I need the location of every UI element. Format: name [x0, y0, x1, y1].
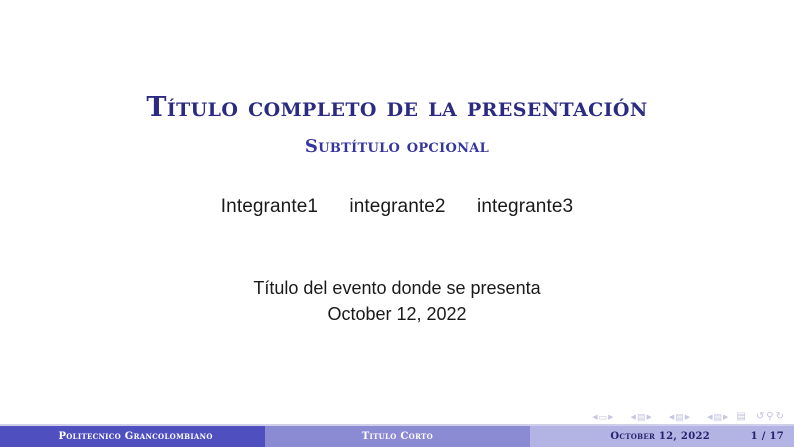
- nav-next-section-arrow-icon[interactable]: ▶: [723, 414, 728, 421]
- title-block: Título completo de la presentación Subtí…: [0, 92, 794, 158]
- author-list: Integrante1 integrante2 integrante3: [0, 196, 794, 218]
- nav-subsection-group[interactable]: ◀ ▤ ▶: [669, 413, 690, 422]
- nav-prev-slide-arrow-icon[interactable]: ◀: [592, 414, 597, 421]
- author-item: integrante3: [477, 196, 573, 218]
- author-item: integrante2: [349, 196, 445, 218]
- event-date: October 12, 2022: [0, 301, 794, 327]
- footer-meta: October 12, 2022 1 / 17: [530, 426, 794, 447]
- nav-next-subsection-arrow-icon[interactable]: ▶: [685, 414, 690, 421]
- nav-prev-subsection-arrow-icon[interactable]: ◀: [669, 414, 674, 421]
- nav-back-icon[interactable]: ↺: [756, 412, 764, 422]
- nav-presentation-icon[interactable]: ▤: [736, 412, 745, 422]
- nav-frame-icon[interactable]: ▤: [637, 413, 646, 422]
- nav-next-frame-arrow-icon[interactable]: ▶: [646, 414, 651, 421]
- nav-prev-frame-arrow-icon[interactable]: ◀: [631, 414, 636, 421]
- footer-page-number: 1 / 17: [750, 431, 784, 442]
- nav-section-group[interactable]: ◀ ▤ ▶: [707, 413, 728, 422]
- event-block: Título del evento donde se presenta Octo…: [0, 275, 794, 327]
- nav-subsection-icon[interactable]: ▤: [675, 413, 684, 422]
- event-title: Título del evento donde se presenta: [0, 275, 794, 301]
- presentation-slide: Título completo de la presentación Subtí…: [0, 0, 794, 447]
- footer-date: October 12, 2022: [610, 431, 710, 442]
- nav-slide-icon[interactable]: ▭: [599, 413, 608, 422]
- beamer-navigation-bar[interactable]: ◀ ▭ ▶ ◀ ▤ ▶ ◀ ▤ ▶ ◀ ▤ ▶ ▤ ↺ ⚲ ↻: [592, 412, 784, 422]
- nav-slide-group[interactable]: ◀ ▭ ▶: [592, 413, 613, 422]
- slide-footer: Politecnico Grancolombiano Titulo Corto …: [0, 426, 794, 447]
- page-subtitle: Subtítulo opcional: [0, 137, 794, 158]
- nav-search-icon[interactable]: ⚲: [766, 412, 773, 422]
- nav-frame-group[interactable]: ◀ ▤ ▶: [631, 413, 652, 422]
- footer-institute: Politecnico Grancolombiano: [0, 426, 265, 447]
- nav-prev-section-arrow-icon[interactable]: ◀: [707, 414, 712, 421]
- author-item: Integrante1: [221, 196, 318, 218]
- nav-next-slide-arrow-icon[interactable]: ▶: [608, 414, 613, 421]
- nav-section-icon[interactable]: ▤: [714, 413, 723, 422]
- page-title: Título completo de la presentación: [0, 92, 794, 123]
- nav-forward-icon[interactable]: ↻: [776, 412, 784, 422]
- nav-history-group[interactable]: ↺ ⚲ ↻: [756, 412, 784, 422]
- footer-short-title: Titulo Corto: [265, 426, 529, 447]
